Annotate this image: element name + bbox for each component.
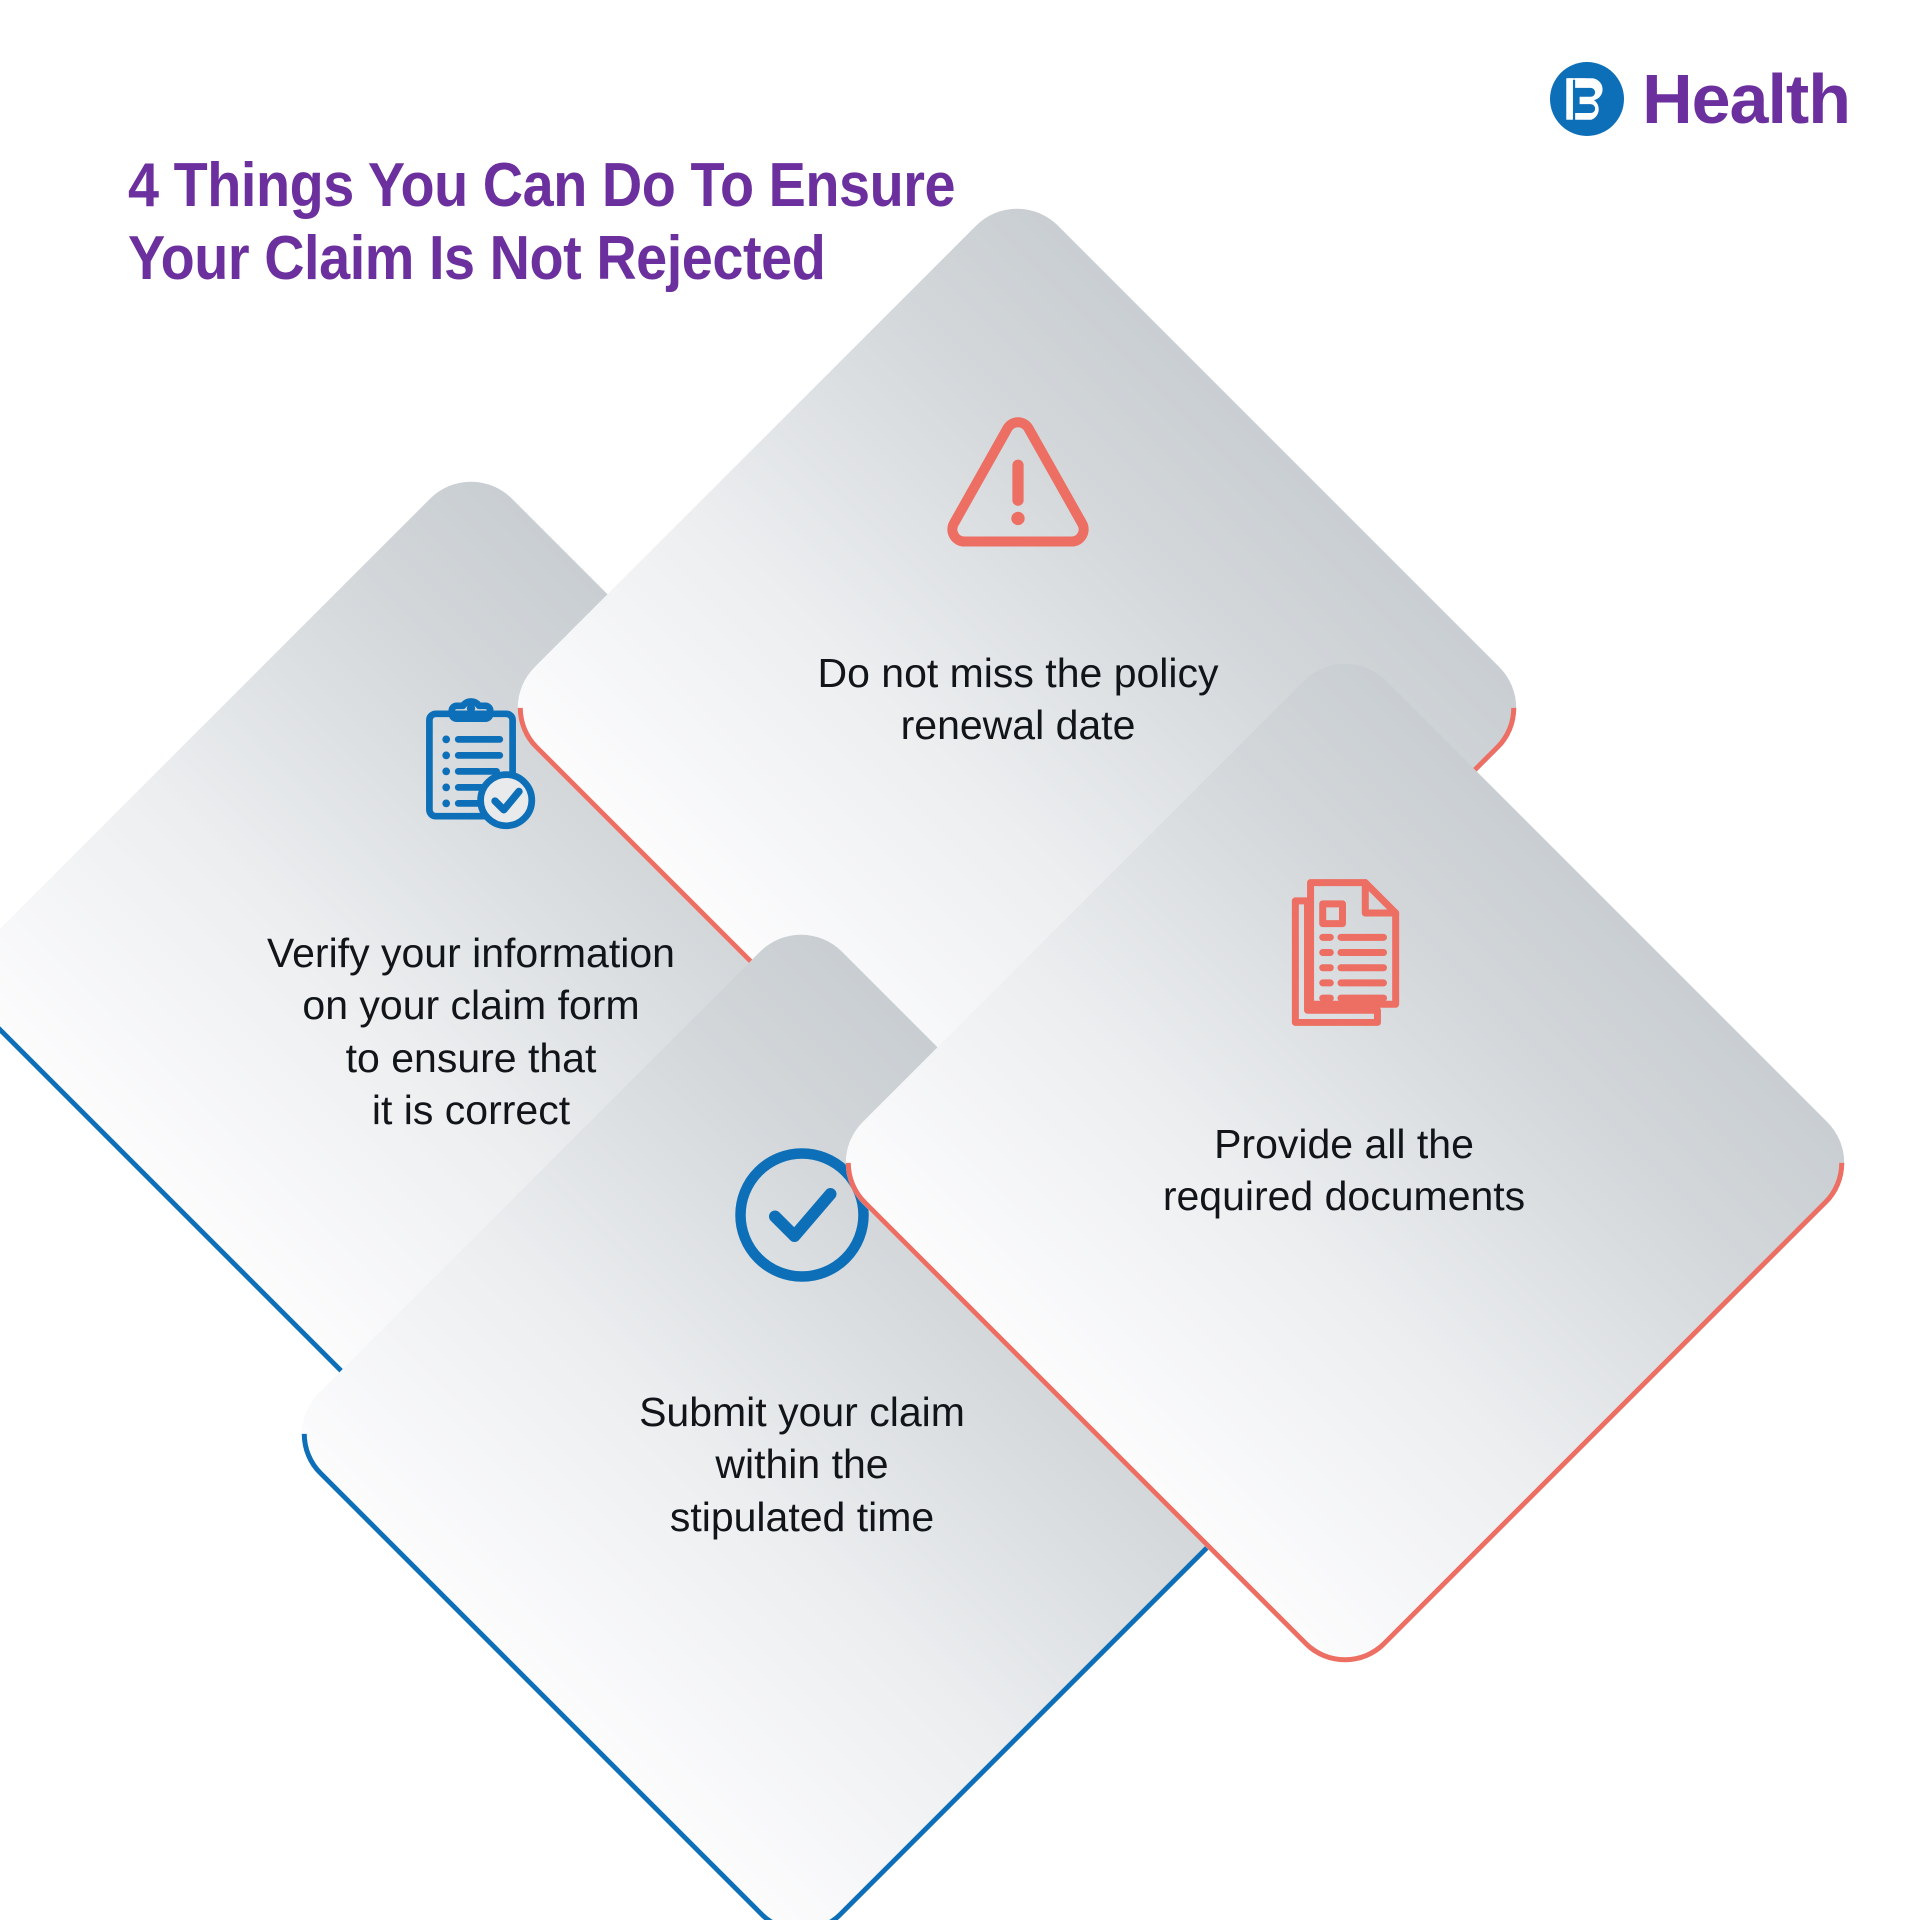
brand-wordmark: Health xyxy=(1642,64,1850,134)
page-title-line-1: 4 Things You Can Do To Ensure xyxy=(128,150,1118,223)
brand-logo: Health xyxy=(1550,62,1850,136)
infographic-canvas: Health 4 Things You Can Do To Ensure You… xyxy=(0,0,1920,1920)
bajaj-b-logo-icon xyxy=(1550,62,1624,136)
